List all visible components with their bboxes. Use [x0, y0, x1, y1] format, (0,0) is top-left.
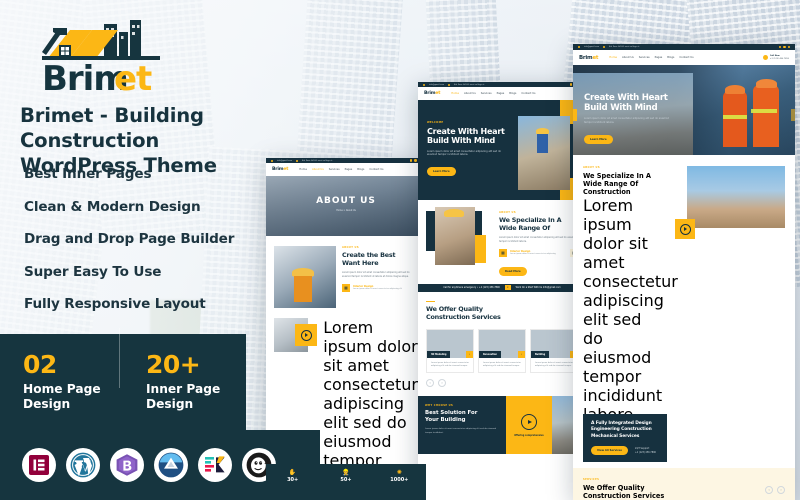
best-solution-section: WHY CHOOSE US Best Solution For Your Bui…	[418, 396, 586, 454]
call-label: Call Now	[770, 55, 780, 57]
cta-services-button[interactable]: View All Services	[591, 446, 628, 455]
about-feature-text: Lorem ipsum dolor sit amet consectetur a…	[353, 288, 402, 290]
hero-subtitle: Lorem ipsum dolor sit amet consectetur a…	[427, 150, 501, 157]
screenshot-home-page[interactable]: info@gmail.com 4th floor, A-100, west co…	[418, 82, 586, 500]
hero-title-2: Build With Mind	[427, 136, 505, 145]
svg-text:et: et	[114, 59, 152, 96]
feature-item: Best Inner Pages	[24, 168, 274, 182]
specialize-cta-button[interactable]: Read More	[499, 267, 527, 276]
solution-body: Lorem ipsum dolor sit amet consectetur a…	[425, 428, 499, 435]
specialize-title-2: Wide Range Of	[499, 225, 578, 233]
solution-title-2: Your Building	[425, 417, 499, 424]
wordpress-icon	[66, 448, 100, 482]
topbar-address: 4th floor, A-100, west college st.	[302, 160, 333, 162]
arrow-right-icon[interactable]: ›	[466, 351, 473, 358]
hero-title-2: Build With Mind	[584, 103, 670, 113]
card-text: Lorem ipsum dolor sit amet consectetur a…	[479, 358, 525, 373]
site-navbar[interactable]: Brimet Home About Us Services Pages Blog…	[418, 87, 586, 100]
about-body: Lorem ipsum dolor sit amet consectetur a…	[342, 271, 418, 278]
emergency-badge-icon: ✆	[505, 285, 511, 290]
counter-item: ✺ 1000+	[373, 470, 426, 483]
nav-item-pages[interactable]: Pages	[655, 56, 663, 59]
navbar-logo[interactable]: Brimet	[424, 91, 440, 96]
emergency-left: Call for anytime & emergency • +1 (123) …	[443, 286, 499, 289]
site-navbar[interactable]: Brimet Home About Us Services Pages Blog…	[573, 50, 795, 65]
stat-number: 20+	[146, 352, 246, 378]
solution-kicker: WHY CHOOSE US	[425, 404, 499, 407]
nav-item-blogs[interactable]: Blogs	[667, 56, 674, 59]
hand-icon: ✋	[266, 470, 319, 476]
promo-column: Brim et Brimet - Building Construction W…	[0, 0, 268, 500]
topbar-address: 4th floor, A-100, west college st.	[609, 46, 640, 48]
services-section-mid: We Offer Quality Construction Services 3…	[418, 292, 586, 397]
cta-line-2: Engineering Construction	[591, 427, 659, 433]
feature-item: Drag and Drop Page Builder	[24, 233, 274, 247]
about-kicker: ABOUT US	[342, 246, 418, 249]
carousel-prev-button[interactable]: ‹	[765, 486, 773, 494]
nav-item-about[interactable]: About Us	[622, 56, 634, 59]
hero-title-1: Create With Heart	[427, 127, 505, 136]
stat-home-page-design: 02 Home Page Design	[0, 352, 123, 411]
specialize-body: Lorem ipsum dolor sit amet consectetur a…	[499, 236, 578, 243]
emergency-right: Work On a Start With Us Info@gmail.com	[516, 286, 561, 289]
card-tag: Building	[531, 351, 549, 358]
nav-item-home[interactable]: Home	[609, 56, 617, 59]
specialize-title-3: Construction	[583, 188, 679, 196]
nav-item-contact[interactable]: Contact Us	[521, 92, 535, 95]
stat-label: Home Page Design	[23, 382, 123, 412]
play-button[interactable]	[675, 219, 695, 239]
specialize-feature-text: Lorem ipsum dolor sit amet consectetur a…	[510, 253, 567, 255]
solution-caption: Offering comprehensive	[514, 434, 544, 437]
counter-item: ✋ 30+	[266, 470, 319, 483]
about-intro-section: ABOUT US Create the Best Want Here Lorem…	[266, 236, 426, 318]
bootstrap-icon	[110, 448, 144, 482]
interior-design-icon: ▦	[342, 284, 350, 292]
specialize-photo	[687, 166, 785, 228]
stat-label: Inner Page Design	[146, 382, 246, 412]
service-card[interactable]: 3D Modeling› Lorem ipsum dolor sit amet …	[426, 329, 474, 374]
card-text: Lorem ipsum dolor sit amet consectetur a…	[427, 358, 473, 373]
hero-kicker: WELCOME	[427, 121, 505, 124]
facebook-icon[interactable]	[779, 46, 781, 48]
nav-item-services[interactable]: Services	[329, 168, 340, 171]
about-hero-title: ABOUT US	[266, 196, 426, 206]
play-button[interactable]	[521, 414, 537, 430]
navbar-logo[interactable]: Brimet	[272, 167, 288, 172]
counter-number: 30+	[266, 477, 319, 483]
cta-line-3: Mechanical Services	[591, 434, 659, 440]
hero-title-1: Create With Heart	[584, 93, 670, 103]
twitter-icon[interactable]	[783, 46, 785, 48]
stat-inner-page-design: 20+ Inner Page Design	[123, 352, 246, 411]
topbar-email: info@gmail.com	[429, 84, 444, 86]
counters-strip: ✋ 30+ 👷 50+ ✺ 1000+	[266, 464, 426, 500]
arrow-right-icon[interactable]: ›	[518, 351, 525, 358]
carousel-next-button[interactable]: ›	[777, 486, 785, 494]
globe-icon: ✺	[373, 470, 426, 476]
team-icon: 👷	[319, 470, 372, 476]
promo-banner: info@gmail.com 4th floor, A-100, west co…	[0, 0, 800, 500]
navbar-logo[interactable]: Brimet	[579, 55, 598, 61]
nav-item-services[interactable]: Services	[481, 92, 492, 95]
nav-item-home[interactable]: Home	[299, 168, 307, 171]
specialize-section: ABOUT US We Specialize In A Wide Range O…	[418, 200, 586, 284]
elementskit-icon	[198, 448, 232, 482]
feature-item: Fully Responsive Layout	[24, 298, 274, 312]
instagram-icon[interactable]	[788, 46, 790, 48]
topbar-email: info@gmail.com	[277, 160, 292, 162]
home-hero: WELCOME Create With Heart Build With Min…	[418, 100, 586, 200]
brand-logo: Brim et	[18, 18, 164, 96]
feature-list: Best Inner Pages Clean & Modern Design D…	[24, 168, 274, 331]
services-title-2: Construction Services	[426, 314, 578, 322]
service-card[interactable]: Renovation› Lorem ipsum dolor sit amet c…	[478, 329, 526, 374]
services-kicker: SERVICES	[583, 478, 765, 481]
specialize-section: ABOUT US We Specialize In A Wide Range O…	[573, 155, 795, 462]
nav-item-blogs[interactable]: Blogs	[357, 168, 364, 171]
topbar-address: 4th floor, A-100, west college st.	[454, 84, 485, 86]
solution-title-1: Best Solution For	[425, 410, 499, 417]
stats-bar: 02 Home Page Design 20+ Inner Page Desig…	[0, 334, 246, 430]
services-section: SERVICES We Offer Quality Construction S…	[573, 468, 795, 500]
service-card[interactable]: Building› Lorem ipsum dolor sit amet con…	[530, 329, 578, 374]
nav-item-contact[interactable]: Contact Us	[679, 56, 693, 59]
specialize-title-2: Wide Range Of	[583, 180, 679, 188]
card-tag: Renovation	[479, 351, 501, 358]
about-hero: ABOUT US Home > About Us	[266, 176, 426, 236]
hero-photo	[518, 116, 570, 190]
navbar-menu[interactable]: Home About Us Services Pages Blogs Conta…	[299, 168, 383, 171]
play-button[interactable]	[295, 324, 317, 346]
card-text: Lorem ipsum dolor sit amet consectetur a…	[531, 358, 577, 373]
nav-item-services[interactable]: Services	[639, 56, 650, 59]
nav-item-contact[interactable]: Contact Us	[369, 168, 383, 171]
hero-cta-button[interactable]: Learn More	[584, 135, 613, 144]
specialize-body: Lorem ipsum dolor sit amet consectetur a…	[583, 196, 661, 424]
nav-item-pages[interactable]: Pages	[345, 168, 353, 171]
site-navbar[interactable]: Brimet Home About Us Services Pages Blog…	[266, 163, 426, 176]
counter-number: 50+	[319, 477, 372, 483]
nav-item-blogs[interactable]: Blogs	[509, 92, 516, 95]
hero-cta-button[interactable]: Learn More	[427, 167, 456, 176]
topbar-email: info@gmail.com	[584, 46, 599, 48]
counter-item: 👷 50+	[319, 470, 372, 483]
specialize-kicker: ABOUT US	[499, 211, 578, 214]
about-breadcrumb: Home > About Us	[266, 209, 426, 212]
about-title-2: Want Here	[342, 260, 418, 268]
services-title-1: We Offer Quality	[583, 484, 765, 492]
hero-subtitle: Lorem ipsum dolor sit amet consectetur a…	[584, 117, 670, 124]
counter-number: 1000+	[373, 477, 426, 483]
interior-design-icon: ▦	[499, 249, 507, 257]
cta-box: A Fully Integrated Design Engineering Co…	[583, 414, 667, 462]
nav-item-about[interactable]: About Us	[464, 92, 476, 95]
navbar-menu[interactable]: Home About Us Services Pages Blogs Conta…	[609, 56, 693, 59]
carousel-next-button[interactable]: ›	[438, 379, 446, 387]
nav-item-pages[interactable]: Pages	[497, 92, 505, 95]
carousel-prev-button[interactable]: ‹	[426, 379, 434, 387]
about-video-photo	[274, 318, 308, 352]
elementor-icon	[22, 448, 56, 482]
feature-item: Super Easy To Use	[24, 266, 274, 280]
services-title-2: Construction Services	[583, 492, 765, 500]
card-tag: 3D Modeling	[427, 351, 450, 358]
screenshot-home-full[interactable]: info@gmail.com 4th floor, A-100, west co…	[573, 44, 795, 500]
navbar-call[interactable]: Call Now +1 (123) 456 7890	[763, 55, 789, 60]
specialize-photo	[435, 207, 475, 265]
nav-item-about[interactable]: About Us	[312, 168, 324, 171]
about-intro-photo	[274, 246, 336, 308]
feature-item: Clean & Modern Design	[24, 201, 274, 215]
emergency-band: Call for anytime & emergency • +1 (123) …	[418, 284, 586, 292]
phone-icon	[763, 55, 768, 60]
call-number: +1 (123) 456 7890	[770, 58, 789, 61]
ultimate-addons-icon	[154, 448, 188, 482]
stat-number: 02	[23, 352, 123, 378]
cta-support-phone: +1 (123) 456 7890	[635, 451, 656, 454]
specialize-title-1: We Specialize In A	[583, 172, 679, 180]
home-hero: Create With Heart Build With Mind Lorem …	[573, 65, 795, 155]
navbar-menu[interactable]: Home About Us Services Pages Blogs Conta…	[451, 92, 535, 95]
nav-item-home[interactable]: Home	[451, 92, 459, 95]
specialize-kicker: ABOUT US	[583, 166, 679, 169]
